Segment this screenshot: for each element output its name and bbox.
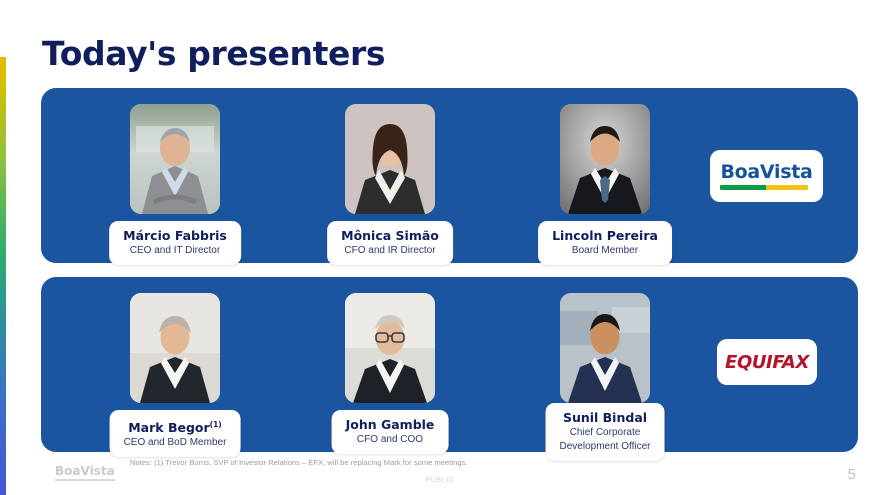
portrait-photo-lincoln-pereira — [560, 104, 650, 214]
page-number: 5 — [848, 466, 856, 483]
presenter-name: Mônica Simão — [341, 228, 439, 243]
boavista-logo: BoaVista — [710, 150, 823, 202]
presenter-card-sunil-bindal[interactable]: Sunil Bindal Chief Corporate Development… — [515, 277, 695, 452]
presenter-namecard: Sunil Bindal Chief Corporate Development… — [546, 403, 665, 461]
presenter-name: Lincoln Pereira — [552, 228, 658, 243]
presenter-name-text: Mark Begor — [128, 420, 209, 435]
equifax-logo-text: EQUIFAX — [725, 352, 809, 373]
equifax-logo: EQUIFAX — [717, 339, 817, 385]
presenter-role: CEO and IT Director — [123, 244, 227, 257]
presenter-role: CFO and COO — [346, 433, 435, 446]
portrait-photo-monica-simao — [345, 104, 435, 214]
presenter-namecard: Mark Begor(1) CEO and BoD Member — [110, 410, 241, 457]
portrait-photo-mark-begor — [130, 293, 220, 403]
presenter-namecard: John Gamble CFO and COO — [332, 410, 449, 454]
presenter-role: CEO and BoD Member — [124, 436, 227, 449]
presenter-footnote-marker: (1) — [210, 420, 222, 429]
presenter-role: Board Member — [552, 244, 658, 257]
portrait-photo-john-gamble — [345, 293, 435, 403]
presenter-name: Sunil Bindal — [560, 410, 651, 425]
presenter-card-lincoln-pereira[interactable]: Lincoln Pereira Board Member — [515, 88, 695, 263]
presenter-card-monica-simao[interactable]: Mônica Simão CFO and IR Director — [300, 88, 480, 263]
classification-label: PUBLIC — [0, 477, 880, 484]
presenter-namecard: Márcio Fabbris CEO and IT Director — [109, 221, 241, 265]
presenter-card-marcio-fabbris[interactable]: Márcio Fabbris CEO and IT Director — [85, 88, 265, 263]
footnote-text: Notes: (1) Trevor Burns, SVP of Investor… — [130, 458, 467, 467]
presenter-name: Mark Begor(1) — [124, 417, 227, 435]
left-accent-gradient-strip — [0, 57, 6, 495]
presenter-panel-boavista: Márcio Fabbris CEO and IT Director Mônic… — [41, 88, 858, 263]
presenter-panel-equifax: Mark Begor(1) CEO and BoD Member Jo — [41, 277, 858, 452]
presenter-role: CFO and IR Director — [341, 244, 439, 257]
presenter-role-line1: Chief Corporate — [560, 426, 651, 439]
presenter-card-mark-begor[interactable]: Mark Begor(1) CEO and BoD Member — [85, 277, 265, 452]
presenter-name: Márcio Fabbris — [123, 228, 227, 243]
portrait-photo-sunil-bindal — [560, 293, 650, 403]
presenter-namecard: Lincoln Pereira Board Member — [538, 221, 672, 265]
boavista-logo-bar — [720, 185, 808, 190]
boavista-logo-text: BoaVista — [720, 163, 812, 182]
presenter-name: John Gamble — [346, 417, 435, 432]
presenter-role-line2: Development Officer — [560, 440, 651, 453]
presenter-namecard: Mônica Simão CFO and IR Director — [327, 221, 453, 265]
portrait-photo-marcio-fabbris — [130, 104, 220, 214]
page-title: Today's presenters — [42, 34, 385, 73]
presenter-card-john-gamble[interactable]: John Gamble CFO and COO — [300, 277, 480, 452]
